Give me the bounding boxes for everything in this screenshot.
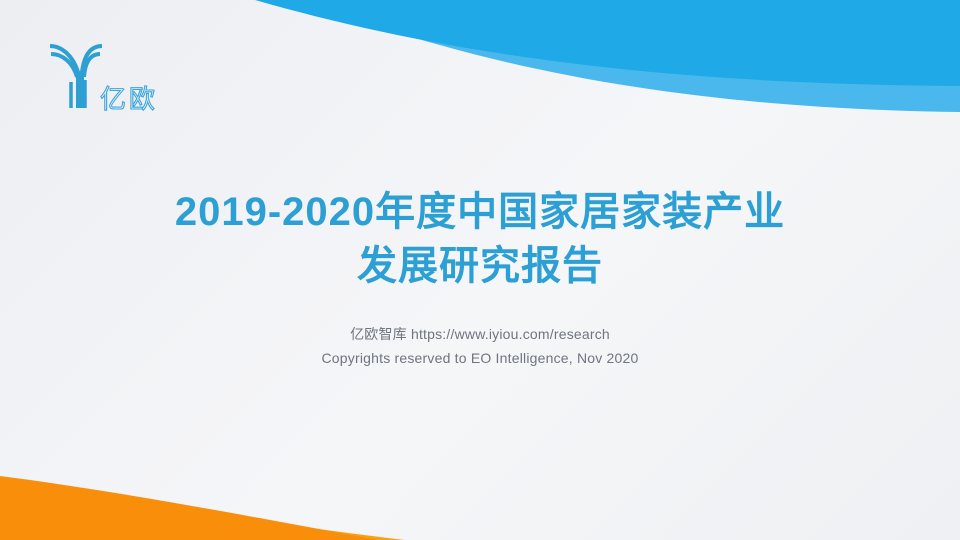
subtitle-copyright-line: Copyrights reserved to EO Intelligence, … (0, 346, 960, 370)
subtitle-source-line: 亿欧智库 https://www.iyiou.com/research (0, 322, 960, 346)
brand-logo[interactable]: 亿欧 (40, 34, 160, 116)
yiou-y-tree-logo (50, 46, 102, 108)
wave-top-main (255, 0, 960, 86)
title-line-2: 发展研究报告 (60, 239, 900, 293)
wave-bottom-light-band (0, 484, 405, 540)
wave-bottom-main (0, 476, 378, 540)
subtitle-block: 亿欧智库 https://www.iyiou.com/research Copy… (0, 322, 960, 370)
page-title: 2019-2020年度中国家居家装产业 发展研究报告 (0, 185, 960, 293)
title-slide: 亿欧 2019-2020年度中国家居家装产业 发展研究报告 亿欧智库 https… (0, 0, 960, 540)
title-line-1: 2019-2020年度中国家居家装产业 (60, 185, 900, 239)
brand-logo-text: 亿欧 (100, 84, 158, 114)
wave-top-light-band (300, 0, 960, 112)
